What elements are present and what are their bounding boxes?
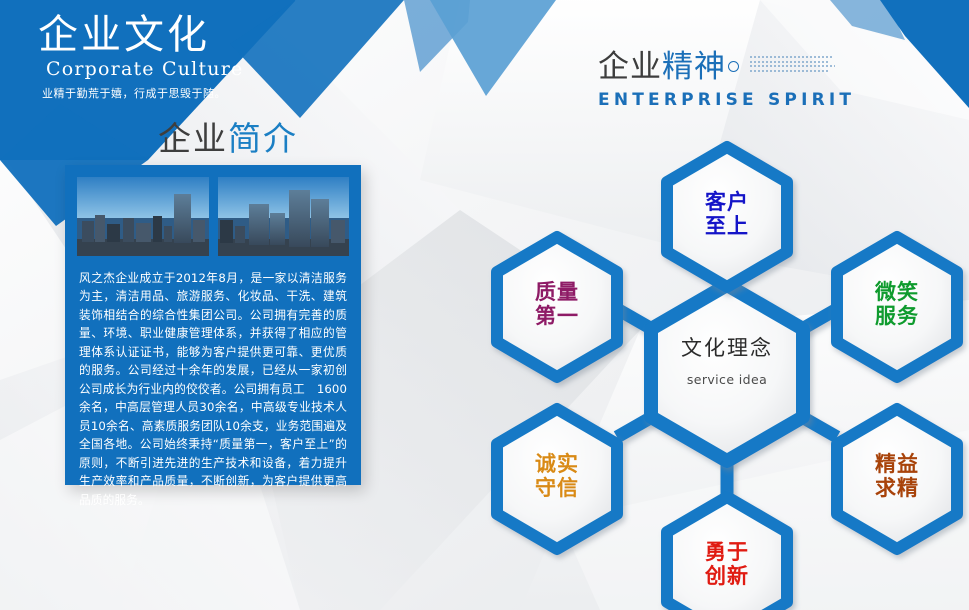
- spirit-title-cn-dark: 企业: [598, 49, 662, 85]
- banner-subtitle-cn: 业精于勤荒于嬉，行成于思毁于随。: [36, 85, 336, 101]
- intro-heading: 企业简介: [158, 112, 298, 160]
- poster-canvas: 企业文化 Corporate Culture 业精于勤荒于嬉，行成于思毁于随。 …: [0, 0, 969, 610]
- spirit-header: 企业精神 ENTERPRISE SPIRIT: [598, 52, 855, 110]
- circle-accent-icon: [728, 61, 739, 72]
- hex-excellence[interactable]: [837, 409, 957, 549]
- intro-heading-dark: 企业: [158, 119, 228, 158]
- cityscape-photo-right: [218, 177, 350, 256]
- cityscape-photo-left: [77, 177, 209, 256]
- hex-center: [651, 285, 803, 461]
- hex-quality-first[interactable]: [497, 237, 617, 377]
- intro-heading-blue: 简介: [228, 119, 298, 158]
- banner-title-cn: 企业文化: [36, 14, 336, 56]
- hexagon-svg: [485, 115, 969, 610]
- spirit-title-cn-blue: 精神: [662, 49, 726, 85]
- spirit-title-cn: 企业精神: [598, 52, 855, 83]
- banner-text-block: 企业文化 Corporate Culture 业精于勤荒于嬉，行成于思毁于随。: [36, 14, 336, 101]
- culture-hexagon-diagram: 客户 至上 微笑 服务 精益 求精 勇于 创新 诚实 守信 质量 第一 文化理念…: [485, 115, 969, 610]
- hex-customer-first[interactable]: [667, 147, 787, 287]
- company-profile-card: 风之杰企业成立于2012年8月，是一家以清洁服务为主，清洁用品、旅游服务、化妆品…: [65, 165, 361, 485]
- company-profile-text: 风之杰企业成立于2012年8月，是一家以清洁服务为主，清洁用品、旅游服务、化妆品…: [65, 256, 361, 509]
- hex-integrity[interactable]: [497, 409, 617, 549]
- photo-row: [65, 165, 361, 256]
- decorative-microtext: [750, 56, 836, 74]
- hex-smile-service[interactable]: [837, 237, 957, 377]
- banner-title-en: Corporate Culture: [36, 58, 336, 80]
- hex-innovation[interactable]: [667, 497, 787, 610]
- spirit-title-en: ENTERPRISE SPIRIT: [598, 90, 855, 110]
